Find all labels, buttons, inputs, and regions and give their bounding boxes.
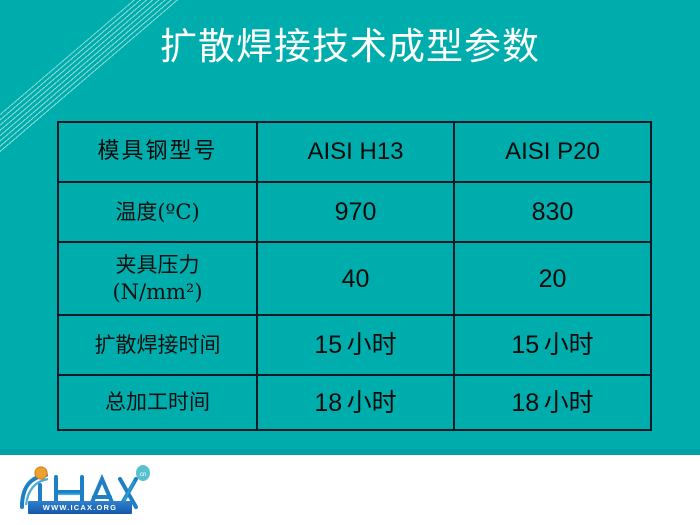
- row-value-cell-col1: 18 小时: [257, 375, 454, 430]
- row-label-line2: (N/mm²): [59, 279, 256, 306]
- svg-text:cn: cn: [140, 472, 146, 478]
- row-value-col1: 40: [342, 265, 370, 293]
- row-label-cell: 总加工时间: [58, 375, 257, 430]
- presentation-slide: 扩散焊接技术成型参数 模具钢型号 AISI H13 AISI P20 温度(ºC…: [0, 0, 700, 525]
- row-value-cell-col1: 15 小时: [257, 315, 454, 375]
- row-unit-col2: 小时: [544, 331, 594, 359]
- row-value-cell-col2: 15 小时: [454, 315, 651, 375]
- table-header-cell-col2: AISI P20: [454, 122, 651, 182]
- row-value-cell-col2: 830: [454, 182, 651, 242]
- table-header-row: 模具钢型号 AISI H13 AISI P20: [58, 122, 651, 182]
- row-value-col1: 15: [314, 331, 342, 359]
- table-header-cell-label: 模具钢型号: [58, 122, 257, 182]
- header-col1-text: AISI H13: [307, 138, 403, 165]
- row-label-line1: 夹具压力: [59, 252, 256, 279]
- parameters-table: 模具钢型号 AISI H13 AISI P20 温度(ºC) 970: [57, 121, 652, 431]
- row-value-col1: 18: [314, 389, 342, 417]
- row-unit-col1: 小时: [347, 389, 397, 417]
- header-col2-text: AISI P20: [505, 138, 600, 165]
- logo-dot-icon: [35, 467, 47, 479]
- logo-superscript-mark: cn: [136, 465, 150, 481]
- table-row: 温度(ºC) 970 830: [58, 182, 651, 242]
- row-value-col2: 20: [539, 265, 567, 293]
- row-unit-col1: 小时: [347, 331, 397, 359]
- slide-footer: cn WWW.ICAX.ORG: [0, 455, 700, 525]
- row-value-cell-col2: 20: [454, 242, 651, 315]
- row-value-cell-col1: 40: [257, 242, 454, 315]
- table-row: 夹具压力 (N/mm²) 40 20: [58, 242, 651, 315]
- icax-logo[interactable]: cn WWW.ICAX.ORG: [12, 461, 152, 519]
- table-header-cell-col1: AISI H13: [257, 122, 454, 182]
- row-label-line1: 总加工时间: [59, 389, 256, 416]
- row-label-cell: 温度(ºC): [58, 182, 257, 242]
- row-unit-col2: 小时: [544, 389, 594, 417]
- row-label-line1: 温度(ºC): [59, 199, 256, 226]
- header-label-text: 模具钢型号: [97, 139, 217, 164]
- row-value-col2: 15: [511, 331, 539, 359]
- page-title: 扩散焊接技术成型参数: [0, 24, 700, 70]
- row-value-cell-col1: 970: [257, 182, 454, 242]
- table-row: 扩散焊接时间 15 小时 15 小时: [58, 315, 651, 375]
- row-value-col1: 970: [335, 198, 377, 226]
- row-label-line1: 扩散焊接时间: [59, 332, 256, 359]
- row-value-col2: 830: [532, 198, 574, 226]
- table-row: 总加工时间 18 小时 18 小时: [58, 375, 651, 430]
- row-value-col2: 18: [511, 389, 539, 417]
- row-label-cell: 夹具压力 (N/mm²): [58, 242, 257, 315]
- logo-url-text: WWW.ICAX.ORG: [28, 501, 132, 514]
- row-label-cell: 扩散焊接时间: [58, 315, 257, 375]
- row-value-cell-col2: 18 小时: [454, 375, 651, 430]
